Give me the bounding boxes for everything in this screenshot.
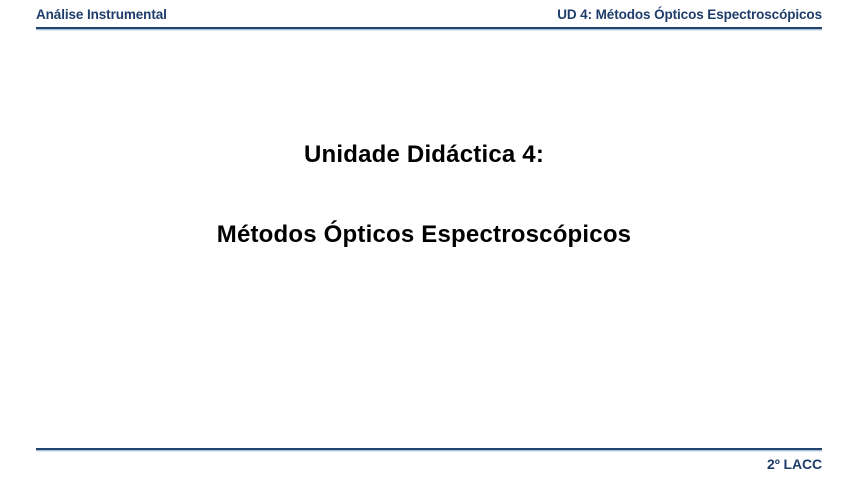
slide-title-block: Unidade Didáctica 4: Métodos Ópticos Esp… bbox=[0, 140, 848, 250]
footer-divider-rule bbox=[36, 448, 822, 452]
slide-header: Análise Instrumental UD 4: Métodos Óptic… bbox=[36, 7, 822, 25]
slide-footer: 2º LACC bbox=[36, 456, 822, 474]
header-unit-title: UD 4: Métodos Ópticos Espectroscópicos bbox=[557, 7, 822, 23]
header-course-title: Análise Instrumental bbox=[36, 7, 167, 23]
page-title-line-2: Métodos Ópticos Espectroscópicos bbox=[0, 220, 848, 250]
title-spacer bbox=[0, 170, 848, 220]
footer-course-group-label: 2º LACC bbox=[767, 456, 822, 472]
header-divider-rule bbox=[36, 27, 822, 31]
slide-canvas: Análise Instrumental UD 4: Métodos Óptic… bbox=[0, 0, 848, 477]
page-title-line-1: Unidade Didáctica 4: bbox=[0, 140, 848, 170]
